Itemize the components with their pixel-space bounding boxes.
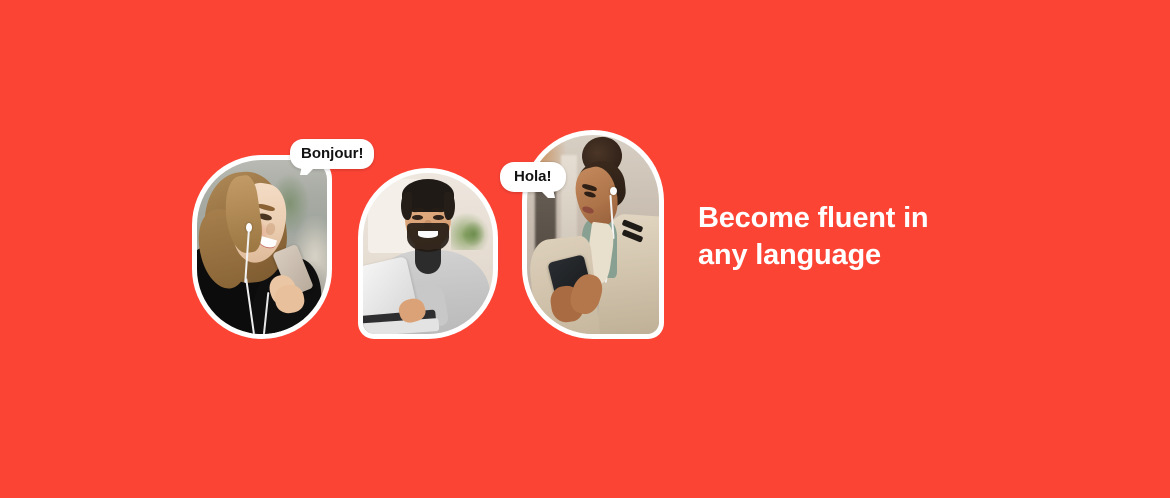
eye-left — [412, 215, 422, 220]
photo-man-laptop — [363, 173, 493, 334]
speech-bubble-bonjour-text: Bonjour! — [301, 145, 363, 162]
speech-bubble-hola: Hola! — [500, 162, 566, 192]
background-plant-leaves — [462, 221, 485, 247]
headline-line-2: any language — [698, 237, 998, 274]
speech-bubble-tail — [539, 189, 555, 198]
photo-card-woman-blonde — [192, 155, 332, 339]
eye-right — [433, 215, 443, 220]
photo-woman-blonde-phone — [197, 160, 327, 334]
hair-side-left — [401, 192, 413, 219]
headline: Become fluent in any language — [698, 200, 998, 274]
language-learning-banner: Bonjour! Hola! Become fluent in any lang… — [0, 0, 1170, 498]
speech-bubble-hola-text: Hola! — [514, 168, 552, 185]
headline-line-1: Become fluent in — [698, 200, 998, 237]
speech-bubble-tail — [300, 166, 316, 175]
photo-card-man-laptop — [358, 168, 498, 339]
speech-bubble-bonjour: Bonjour! — [290, 139, 374, 169]
earbud-icon — [610, 187, 617, 195]
